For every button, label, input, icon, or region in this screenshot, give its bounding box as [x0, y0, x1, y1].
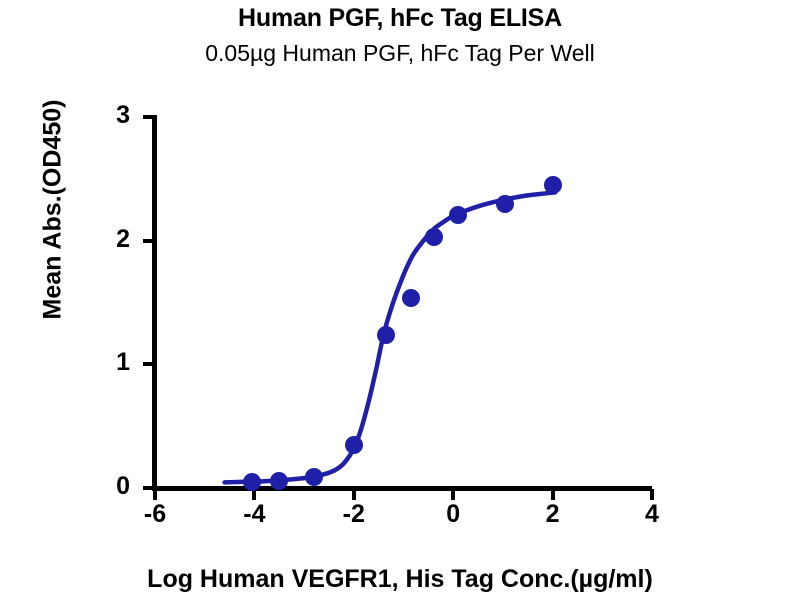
data-point-marker — [243, 473, 261, 491]
x-tick-label: -6 — [125, 502, 185, 527]
y-tick-label: 3 — [100, 103, 130, 128]
x-tick-label: 4 — [622, 502, 682, 527]
y-tick-mark — [143, 362, 153, 366]
y-tick-mark — [143, 115, 153, 119]
chart-container: Human PGF, hFc Tag ELISA 0.05µg Human PG… — [0, 0, 800, 600]
data-point-marker — [270, 472, 288, 490]
x-tick-label: 0 — [423, 502, 483, 527]
y-axis-label: Mean Abs.(OD450) — [39, 45, 68, 375]
data-point-marker — [377, 326, 395, 344]
x-tick-mark — [551, 489, 555, 500]
y-tick-label: 1 — [100, 350, 130, 375]
x-tick-mark — [153, 489, 157, 500]
x-axis-label: Log Human VEGFR1, His Tag Conc.(µg/ml) — [0, 565, 800, 594]
y-tick-label: 2 — [100, 227, 130, 252]
x-tick-mark — [352, 489, 356, 500]
y-tick-mark — [143, 239, 153, 243]
data-point-marker — [402, 289, 420, 307]
data-point-marker — [496, 195, 514, 213]
y-tick-mark — [143, 486, 153, 490]
chart-title: Human PGF, hFc Tag ELISA — [0, 4, 800, 33]
data-point-marker — [425, 228, 443, 246]
data-point-marker — [544, 176, 562, 194]
x-tick-label: -4 — [224, 502, 284, 527]
x-tick-mark — [650, 489, 654, 500]
chart-subtitle: 0.05µg Human PGF, hFc Tag Per Well — [0, 40, 800, 67]
data-point-marker — [449, 206, 467, 224]
x-tick-label: -2 — [324, 502, 384, 527]
x-tick-label: 2 — [523, 502, 583, 527]
x-axis-line — [152, 486, 652, 491]
y-axis-line — [152, 115, 157, 491]
y-tick-label: 0 — [100, 474, 130, 499]
x-tick-mark — [451, 489, 455, 500]
data-point-marker — [305, 468, 323, 486]
data-point-marker — [345, 436, 363, 454]
